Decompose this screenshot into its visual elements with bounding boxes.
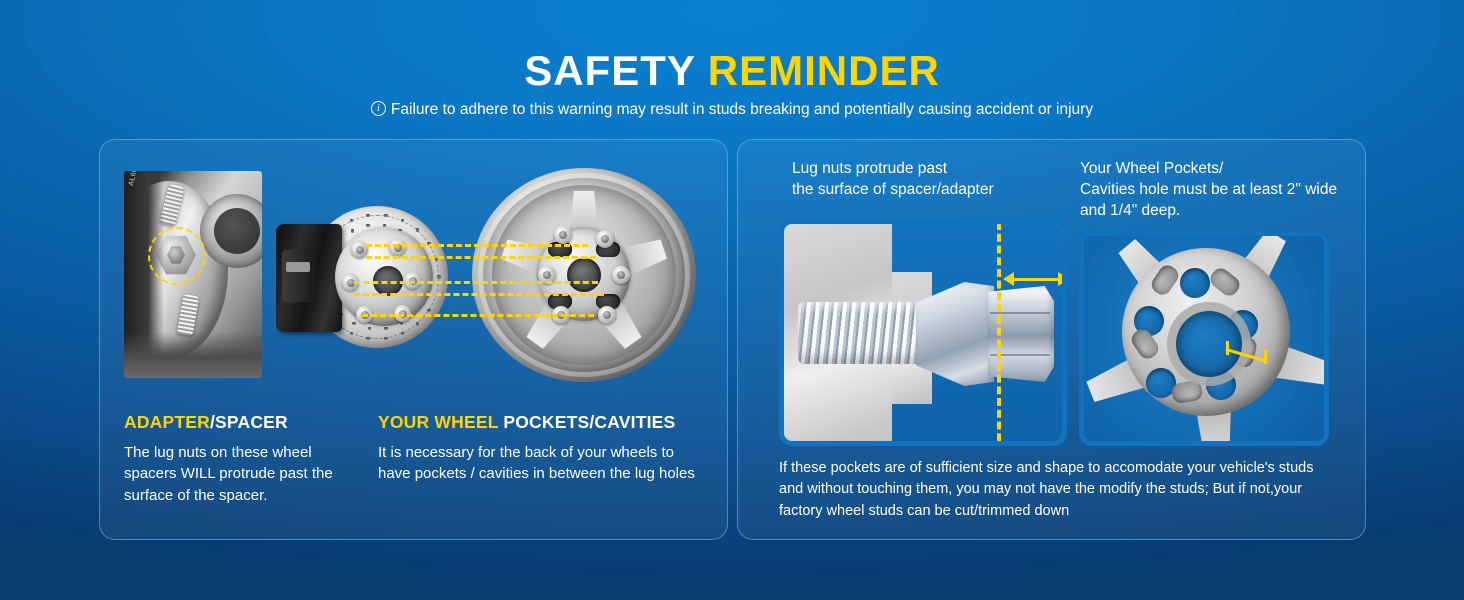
infographic-canvas: SAFETY REMINDER Failure to adhere to thi… xyxy=(0,0,1464,600)
alignment-dashed-line xyxy=(362,314,594,317)
alignment-dashed-line xyxy=(366,244,588,247)
rotor-drill-hole xyxy=(366,214,369,217)
rotor-drill-hole xyxy=(350,219,353,222)
caption-body: It is necessary for the back of your whe… xyxy=(378,442,708,485)
title-word-reminder: REMINDER xyxy=(708,47,940,94)
protrusion-arrow xyxy=(1003,272,1067,286)
spacer-surface-dashed-line xyxy=(997,222,1001,446)
caption-heading: YOUR WHEEL POCKETS/CAVITIES xyxy=(378,412,708,433)
left-panel: AL6061-T6 xyxy=(99,139,728,540)
alignment-dashed-line xyxy=(354,281,598,284)
wheel-lug-hole xyxy=(1180,268,1210,298)
spacer-shadow xyxy=(124,332,262,378)
right-heading-lug-nuts: Lug nuts protrude pastthe surface of spa… xyxy=(792,158,1052,200)
rotor-drill-hole xyxy=(350,332,353,335)
rotor-drill-hole xyxy=(366,337,369,340)
caption-your-wheel: YOUR WHEEL POCKETS/CAVITIES It is necess… xyxy=(378,412,708,485)
arrow-bar xyxy=(1009,278,1063,281)
bolt-threads xyxy=(798,302,920,364)
caption-heading-accent: ADAPTER xyxy=(124,412,210,432)
rotor-drill-hole xyxy=(384,327,387,330)
caption-heading-accent: YOUR WHEEL xyxy=(378,412,498,432)
rotor-drill-hole xyxy=(368,327,371,330)
lug-bolt-protrusion-diagram xyxy=(779,219,1067,446)
alignment-dashed-line xyxy=(366,256,596,259)
wheel-back-view xyxy=(472,168,696,382)
right-panel: Lug nuts protrude pastthe surface of spa… xyxy=(737,139,1366,540)
rotor-drill-hole xyxy=(427,309,430,312)
wheel-pocket-photo xyxy=(1079,231,1329,446)
rotor-drill-hole xyxy=(401,332,404,335)
rotor-drill-hole xyxy=(384,337,387,340)
info-circle-icon xyxy=(371,101,386,116)
page-title: SAFETY REMINDER xyxy=(0,50,1464,92)
wheel-back-closeup xyxy=(1079,231,1329,446)
rotor-drill-hole xyxy=(383,224,386,227)
arrow-head-left-icon xyxy=(1003,272,1014,286)
title-word-safety: SAFETY xyxy=(524,47,695,94)
arrow-head-right-icon xyxy=(1058,272,1067,286)
right-panel-footer-text: If these pockets are of sufficient size … xyxy=(779,458,1339,522)
caption-adapter-spacer: ADAPTER/SPACER The lug nuts on these whe… xyxy=(124,412,364,506)
rotor-drill-hole xyxy=(416,228,419,231)
warning-subtitle: Failure to adhere to this warning may re… xyxy=(0,101,1464,119)
right-heading-wheel-pockets: Your Wheel Pockets/Cavities hole must be… xyxy=(1080,158,1350,221)
wheel-lug-hole xyxy=(598,306,616,324)
rotor-drill-hole xyxy=(437,275,440,278)
alignment-dashed-line xyxy=(354,293,604,296)
rotor-drill-hole xyxy=(351,229,354,232)
hub-lug-nut xyxy=(389,239,406,256)
rotor-drill-hole xyxy=(352,322,355,325)
wheel-center-bore xyxy=(567,258,601,292)
measure-bar xyxy=(1226,348,1265,361)
caption-heading-rest: /SPACER xyxy=(210,412,288,432)
caption-body: The lug nuts on these wheel spacers WILL… xyxy=(124,442,364,506)
measure-tick xyxy=(1226,341,1229,355)
rotor-drill-hole xyxy=(384,214,387,217)
wheel-lug-hole xyxy=(596,230,614,248)
measure-tick xyxy=(1264,350,1267,364)
wheel-lug-hole xyxy=(554,226,572,244)
rotor-drill-hole xyxy=(366,224,369,227)
wheel-spacer-photo: AL6061-T6 xyxy=(124,171,262,378)
yellow-measurement-line xyxy=(1226,338,1268,362)
rotor-drill-hole xyxy=(416,322,419,325)
warning-subtitle-text: Failure to adhere to this warning may re… xyxy=(391,101,1093,118)
brake-rotor-hub-assembly xyxy=(276,206,456,348)
caption-heading-rest: POCKETS/CAVITIES xyxy=(498,412,675,432)
caption-heading: ADAPTER/SPACER xyxy=(124,412,364,433)
yellow-dashed-circle xyxy=(148,227,206,285)
wheel-lug-hole xyxy=(612,266,630,284)
rotor-drill-hole xyxy=(401,219,404,222)
brake-caliper xyxy=(276,224,342,332)
